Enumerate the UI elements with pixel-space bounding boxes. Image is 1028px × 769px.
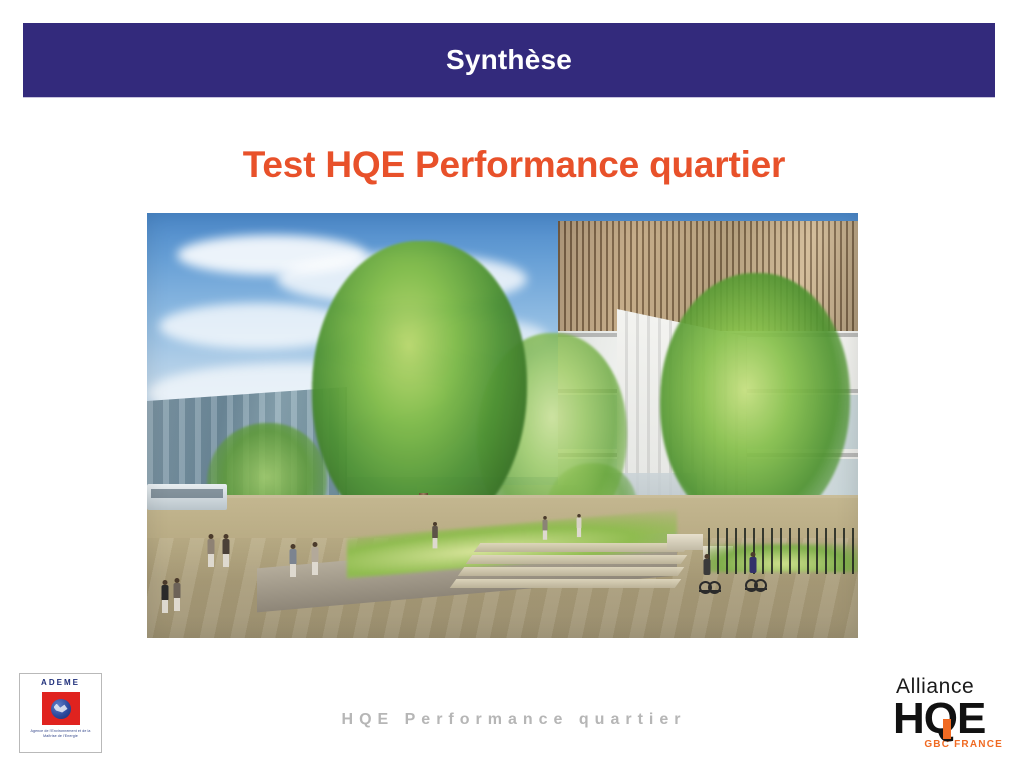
hqe-q-accent-icon xyxy=(943,719,951,739)
tree-right xyxy=(660,273,850,533)
bench-block xyxy=(667,534,703,550)
pedestrian-body xyxy=(312,547,319,563)
page-title: Test HQE Performance quartier xyxy=(0,146,1028,185)
pedestrian-body xyxy=(208,539,215,555)
globe-icon xyxy=(51,699,71,719)
pedestrian-legs xyxy=(312,562,318,575)
header-title: Synthèse xyxy=(446,46,572,74)
ademe-globe-icon xyxy=(42,692,80,725)
pedestrian-body xyxy=(290,549,297,565)
pedestrian-body xyxy=(432,526,438,539)
alliance-hqe-logo: Alliance HQE GBC FRANCE xyxy=(893,676,1005,754)
pedestrian-body xyxy=(174,583,181,599)
ademe-logo: ADEME Agence de l'Environnement et de la… xyxy=(19,673,102,753)
step xyxy=(466,555,688,564)
pedestrian-legs xyxy=(577,528,581,537)
pedestrian-body xyxy=(223,539,230,555)
cyclist-body xyxy=(704,559,711,575)
architectural-rendering-image xyxy=(147,213,858,638)
pedestrian-legs xyxy=(543,530,547,539)
hqe-mark: HQE xyxy=(893,699,1005,739)
pedestrian-legs xyxy=(208,554,214,567)
step xyxy=(450,579,682,588)
bicycle xyxy=(745,574,767,590)
pedestrian-body xyxy=(542,520,547,532)
pedestrian-legs xyxy=(433,538,438,548)
ademe-wordmark: ADEME xyxy=(41,679,80,687)
pedestrian-legs xyxy=(290,564,296,577)
header-banner: Synthèse xyxy=(23,23,995,97)
pedestrian-legs xyxy=(174,598,180,611)
ademe-tagline: Agence de l'Environnement et de la Maîtr… xyxy=(25,729,97,740)
slide-canvas: Synthèse Test HQE Performance quartier xyxy=(0,0,1028,769)
pedestrian-body xyxy=(162,585,169,601)
footer-caption: HQE Performance quartier xyxy=(0,711,1028,729)
pedestrian-legs xyxy=(162,600,168,613)
step xyxy=(458,567,685,576)
pedestrian-legs xyxy=(223,554,229,567)
bus-vehicle xyxy=(147,484,227,510)
bicycle xyxy=(699,576,721,592)
step xyxy=(474,543,691,552)
fence xyxy=(708,528,858,574)
cyclist-body xyxy=(750,557,757,573)
